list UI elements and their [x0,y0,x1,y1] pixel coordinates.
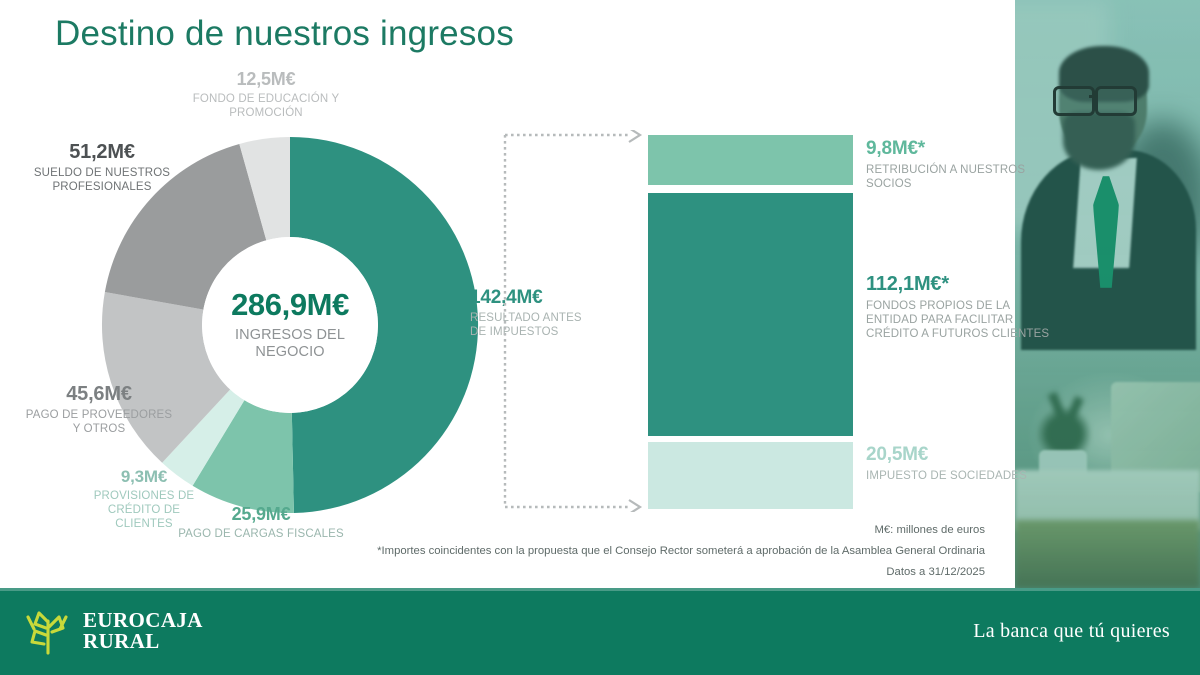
footer-divider [0,588,1200,591]
label-cargas-value: 25,9M€ [176,505,346,523]
label-fondos-value: 112,1M€* [866,274,1056,294]
bracket-top-arrowhead-icon [629,130,640,142]
bar-retribucion-socios [648,135,853,185]
brand-name-line2: RURAL [83,631,203,652]
label-fondos-propios: 112,1M€* FONDOS PROPIOS DE LA ENTIDAD PA… [866,274,1056,341]
label-sueldo-value: 51,2M€ [32,142,172,162]
label-fondo-text: FONDO DE EDUCACIÓN Y PROMOCIÓN [186,93,346,121]
label-impuesto-value: 20,5M€ [866,445,1056,464]
bracket-svg [503,130,643,512]
donut-center-value: 286,9M€ [231,289,349,320]
label-provisiones-value: 9,3M€ [84,468,204,485]
label-sueldo-profesionales: 51,2M€ SUELDO DE NUESTROS PROFESIONALES [32,142,172,195]
label-fondo-value: 12,5M€ [186,70,346,88]
bracket-bottom-arrowhead-icon [629,500,640,512]
label-impuesto-text: IMPUESTO DE SOCIEDADES [866,469,1056,483]
footer-tagline: La banca que tú quieres [973,620,1170,643]
bar-fondos-propios [648,193,853,436]
label-pago-value: 45,6M€ [24,384,174,404]
label-sueldo-text: SUELDO DE NUESTROS PROFESIONALES [32,167,172,195]
label-cargas-text: PAGO DE CARGAS FISCALES [176,528,346,542]
label-fondos-text: FONDOS PROPIOS DE LA ENTIDAD PARA FACILI… [866,299,1056,341]
stacked-bar-chart [648,135,853,509]
label-pago-text: PAGO DE PROVEEDORES Y OTROS [24,409,174,437]
footnote-unit: M€: millones de euros [345,520,985,541]
footer-bar: EUROCAJA RURAL La banca que tú quieres [0,588,1200,675]
footnote-asterisk: *Importes coincidentes con la propuesta … [345,541,985,562]
donut-center-label: 286,9M€ INGRESOS DEL NEGOCIO [202,237,378,413]
label-cargas-fiscales: 25,9M€ PAGO DE CARGAS FISCALES [176,505,346,542]
brand-name: EUROCAJA RURAL [83,610,203,653]
brand-name-line1: EUROCAJA [83,610,203,631]
page-title: Destino de nuestros ingresos [55,14,514,54]
label-socios-text: RETRIBUCIÓN A NUESTROS SOCIOS [866,163,1056,191]
footnotes: M€: millones de euros *Importes coincide… [345,520,985,583]
dotted-connector-bracket [503,130,643,512]
label-pago-proveedores: 45,6M€ PAGO DE PROVEEDORES Y OTROS [24,384,174,437]
infographic-slide: Destino de nuestros ingresos [0,0,1200,675]
bar-impuesto-sociedades [648,442,853,509]
brand-logo[interactable]: EUROCAJA RURAL [22,605,203,657]
footnote-date: Datos a 31/12/2025 [345,562,985,583]
eurocaja-wheat-icon [22,605,74,657]
label-retribucion-socios: 9,8M€* RETRIBUCIÓN A NUESTROS SOCIOS [866,139,1056,191]
label-socios-value: 9,8M€* [866,139,1056,158]
donut-center-text: INGRESOS DEL NEGOCIO [202,327,378,361]
label-fondo-educacion: 12,5M€ FONDO DE EDUCACIÓN Y PROMOCIÓN [186,70,346,121]
label-impuesto-sociedades: 20,5M€ IMPUESTO DE SOCIEDADES [866,445,1056,483]
